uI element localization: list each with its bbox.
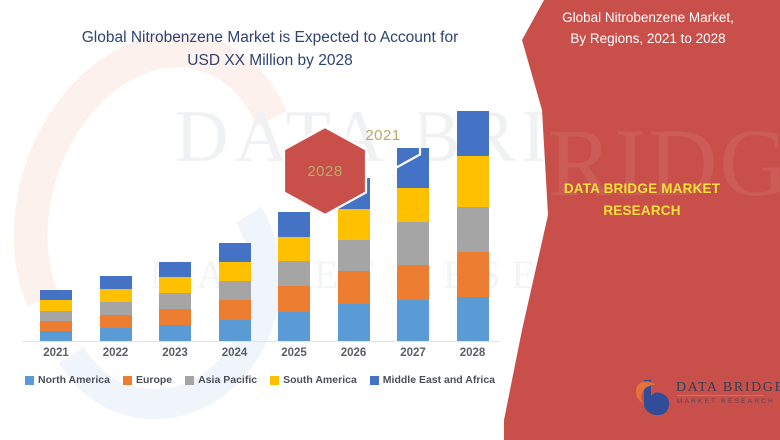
legend-swatch-middle-east-and-africa (370, 376, 379, 385)
bar-2023 (159, 262, 191, 341)
bar-2024 (219, 243, 251, 341)
x-tick-2028: 2028 (445, 347, 501, 359)
legend-label-north-america: North America (38, 374, 110, 386)
x-tick-2024: 2024 (207, 347, 263, 359)
x-tick-2026: 2026 (326, 347, 382, 359)
panel-title-line-2: By Regions, 2021 to 2028 (530, 29, 766, 50)
bar-segment-2022-europe (100, 315, 132, 328)
bar-segment-2028-europe (457, 252, 489, 297)
x-axis-tick-labels: 20212022202320242025202620272028 (0, 347, 520, 367)
x-tick-2022: 2022 (88, 347, 144, 359)
panel-brand-line-1: DATA BRIDGE MARKET (524, 178, 760, 200)
panel-title-line-1: Global Nitrobenzene Market, (530, 8, 766, 29)
legend-swatch-north-america (25, 376, 34, 385)
bar-segment-2021-north-america (40, 331, 72, 341)
data-bridge-mark-icon (636, 378, 672, 416)
legend-label-europe: Europe (136, 374, 172, 386)
legend-swatch-south-america (270, 376, 279, 385)
bar-segment-2025-europe (278, 286, 310, 312)
bar-2025 (278, 212, 310, 341)
bar-segment-2024-north-america (219, 320, 251, 341)
chart-legend: North AmericaEuropeAsia PacificSouth Ame… (0, 374, 520, 386)
bar-segment-2027-europe (397, 265, 429, 300)
bar-segment-2023-europe (159, 309, 191, 325)
bar-segment-2023-middle-east-and-africa (159, 262, 191, 277)
logo-tagline: MARKET RESEARCH (677, 398, 775, 405)
panel-brand-line-2: RESEARCH (524, 200, 760, 222)
bar-segment-2023-south-america (159, 277, 191, 293)
bar-segment-2028-asia-pacific (457, 207, 489, 252)
bar-segment-2026-north-america (338, 304, 370, 341)
bar-segment-2022-north-america (100, 328, 132, 341)
bar-segment-2028-south-america (457, 156, 489, 207)
bar-segment-2023-north-america (159, 325, 191, 341)
x-axis-baseline (22, 341, 500, 342)
bar-2022 (100, 276, 132, 341)
x-tick-2023: 2023 (147, 347, 203, 359)
bar-segment-2021-middle-east-and-africa (40, 290, 72, 300)
legend-swatch-europe (123, 376, 132, 385)
bar-segment-2022-asia-pacific (100, 302, 132, 315)
bar-segment-2021-europe (40, 321, 72, 331)
bar-segment-2021-asia-pacific (40, 311, 72, 321)
logo-wordmark: DATA BRIDGE (676, 380, 780, 396)
bar-segment-2022-middle-east-and-africa (100, 276, 132, 289)
legend-item-north-america[interactable]: North America (25, 374, 110, 386)
bar-segment-2025-north-america (278, 312, 310, 341)
x-tick-2027: 2027 (385, 347, 441, 359)
x-tick-2025: 2025 (266, 347, 322, 359)
bar-segment-2028-north-america (457, 297, 489, 341)
legend-label-middle-east-and-africa: Middle East and Africa (383, 374, 495, 386)
panel-title: Global Nitrobenzene Market, By Regions, … (530, 8, 766, 50)
bar-segment-2024-asia-pacific (219, 281, 251, 300)
hexagon-2028-label: 2028 (278, 124, 372, 218)
hexagon-badges: 2021 2028 (278, 92, 448, 192)
legend-item-middle-east-and-africa[interactable]: Middle East and Africa (370, 374, 495, 386)
hexagon-badge-2028: 2028 (278, 124, 372, 218)
bar-segment-2027-south-america (397, 188, 429, 222)
legend-label-south-america: South America (283, 374, 357, 386)
bar-segment-2021-south-america (40, 300, 72, 311)
bar-segment-2026-europe (338, 271, 370, 304)
legend-item-europe[interactable]: Europe (123, 374, 172, 386)
bar-2028 (457, 111, 489, 341)
logo-divider-rule (677, 395, 763, 396)
bar-segment-2026-asia-pacific (338, 240, 370, 271)
bar-segment-2025-asia-pacific (278, 261, 310, 286)
legend-item-asia-pacific[interactable]: Asia Pacific (185, 374, 257, 386)
bar-segment-2025-south-america (278, 237, 310, 261)
bar-segment-2024-south-america (219, 262, 251, 281)
bar-segment-2022-south-america (100, 289, 132, 302)
x-tick-2021: 2021 (28, 347, 84, 359)
bar-segment-2028-middle-east-and-africa (457, 111, 489, 156)
panel-brand-text: DATA BRIDGE MARKET RESEARCH (524, 178, 760, 221)
infographic-root: DATA BRIDGE MARKET RESEARCH Global Nitro… (0, 0, 780, 440)
legend-label-asia-pacific: Asia Pacific (198, 374, 257, 386)
company-logo: DATA BRIDGE MARKET RESEARCH (636, 378, 768, 418)
bar-segment-2027-north-america (397, 300, 429, 341)
bar-segment-2027-asia-pacific (397, 222, 429, 265)
bar-segment-2024-middle-east-and-africa (219, 243, 251, 262)
bar-segment-2023-asia-pacific (159, 293, 191, 309)
bar-segment-2024-europe (219, 300, 251, 320)
legend-swatch-asia-pacific (185, 376, 194, 385)
bar-2021 (40, 290, 72, 341)
legend-item-south-america[interactable]: South America (270, 374, 357, 386)
